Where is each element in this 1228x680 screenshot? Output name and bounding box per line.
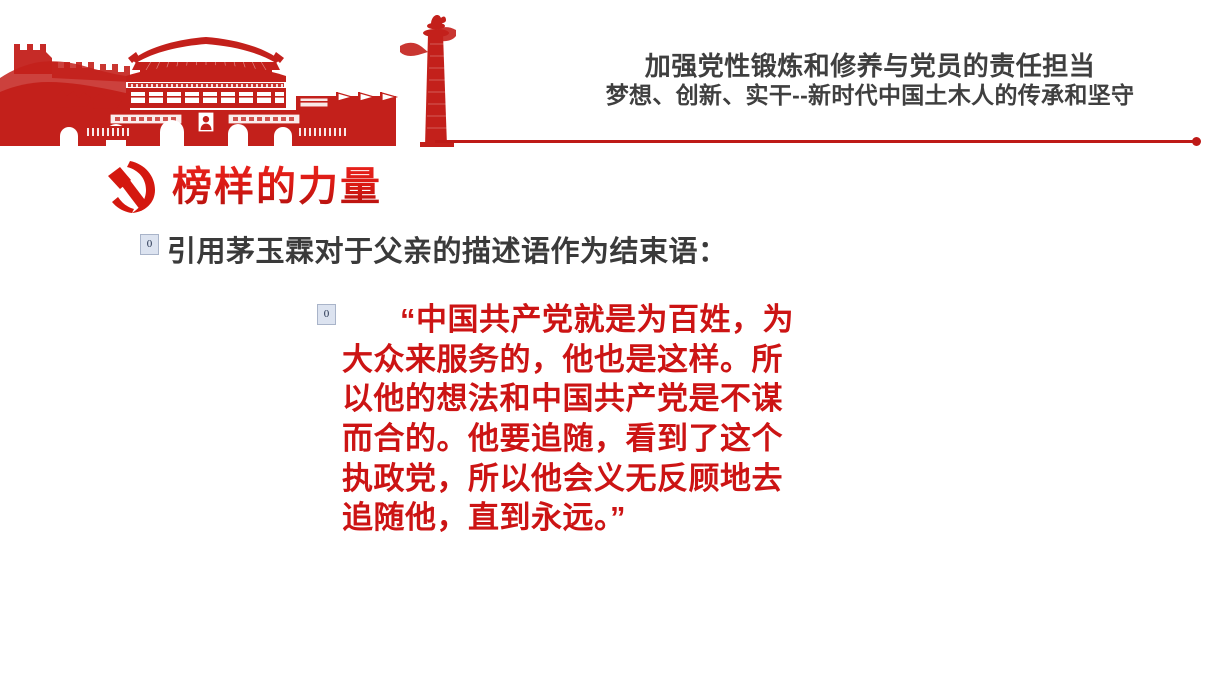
header-title-block: 加强党性锻炼和修养与党员的责任担当 梦想、创新、实干--新时代中国土木人的传承和… (520, 52, 1220, 109)
divider-end-dot-icon (1192, 137, 1201, 146)
header-title-line2: 梦想、创新、实干--新时代中国土木人的传承和坚守 (520, 83, 1220, 109)
quote-placeholder-marker: 0 (317, 304, 336, 325)
quote-text: “中国共产党就是为百姓，为 大众来服务的，他也是这样。所 以他的想法和中国共产党… (342, 300, 862, 538)
header-title-line1: 加强党性锻炼和修养与党员的责任担当 (520, 52, 1220, 81)
quote-line: 执政党，所以他会义无反顾地去 (342, 459, 862, 499)
divider-rule (435, 140, 1197, 143)
slide-canvas: 加强党性锻炼和修养与党员的责任担当 梦想、创新、实干--新时代中国土木人的传承和… (0, 0, 1228, 680)
quote-line: 大众来服务的，他也是这样。所 (342, 340, 862, 380)
hammer-and-sickle-party-emblem-icon (100, 158, 160, 216)
bullet-placeholder-marker: 0 (140, 234, 159, 255)
quote-line: “中国共产党就是为百姓，为 (342, 300, 862, 340)
section-heading: 榜样的力量 (100, 158, 382, 216)
quote-line: 追随他，直到永远。” (342, 498, 862, 538)
quote-block: 0 “中国共产党就是为百姓，为 大众来服务的，他也是这样。所 以他的想法和中国共… (317, 304, 862, 538)
intro-line-text: 引用茅玉霖对于父亲的描述语作为结束语： (167, 228, 728, 270)
section-heading-text: 榜样的力量 (172, 165, 382, 209)
header-divider (435, 139, 1201, 144)
quote-line: 而合的。他要追随，看到了这个 (342, 419, 862, 459)
intro-line: 0 引用茅玉霖对于父亲的描述语作为结束语： (140, 234, 728, 270)
quote-line: 以他的想法和中国共产党是不谋 (342, 379, 862, 419)
tiananmen-great-wall-huabiao-silhouette-icon (0, 0, 470, 152)
